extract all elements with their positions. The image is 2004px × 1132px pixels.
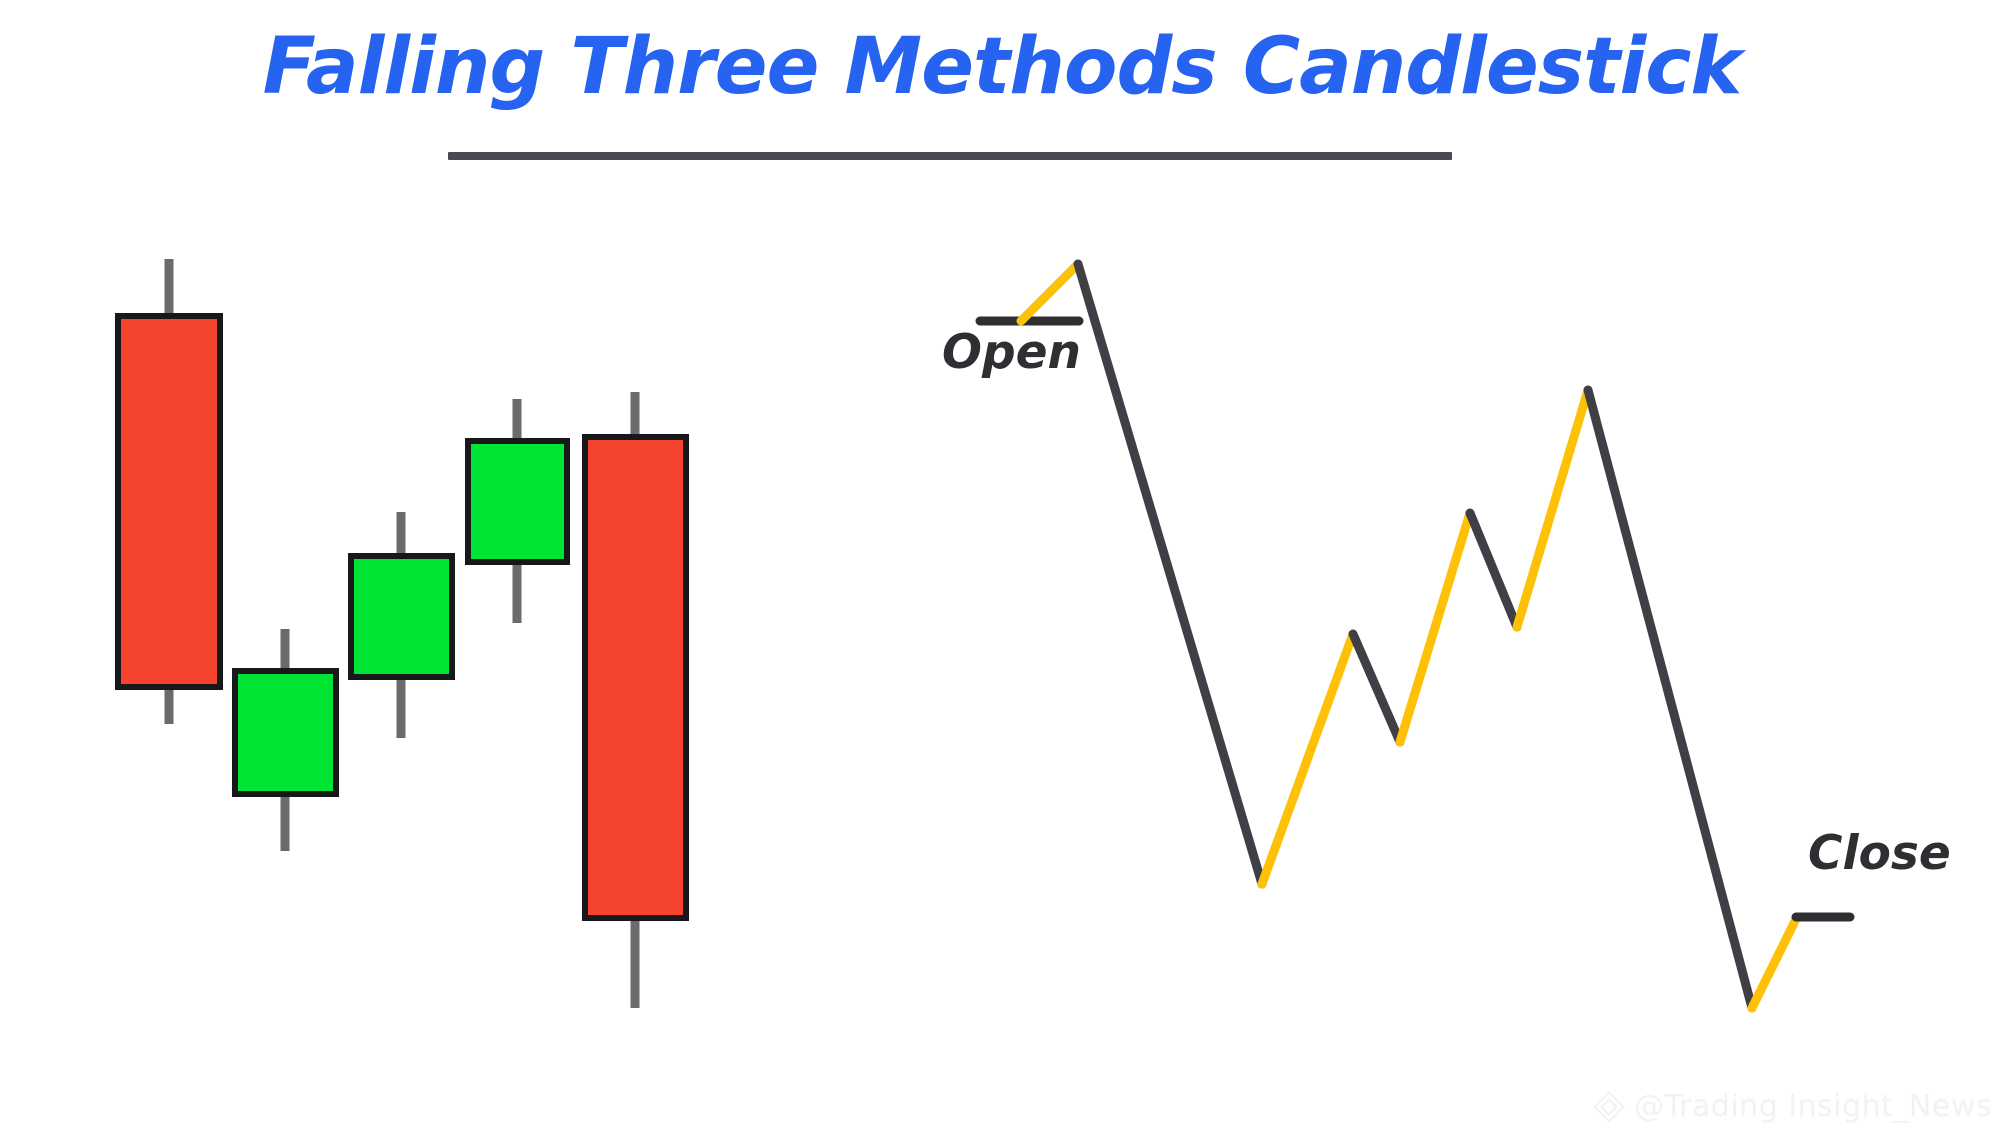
pattern-figure bbox=[0, 0, 2004, 1132]
candle-4 bbox=[468, 399, 567, 623]
candle-3-body bbox=[351, 556, 452, 677]
zigzag-segment-up-5 bbox=[1752, 917, 1797, 1008]
candle-5-body bbox=[585, 437, 686, 918]
zigzag-segment-down-4 bbox=[1588, 390, 1752, 1008]
watermark: @Trading Insight_News bbox=[1592, 1089, 1992, 1124]
candle-5 bbox=[585, 392, 686, 1008]
zigzag-segment-down-1 bbox=[1078, 264, 1262, 884]
screenshot-canvas: Falling Three Methods Candlestick bbox=[0, 0, 2004, 1132]
zigzag-segment-up-2 bbox=[1262, 634, 1353, 884]
close-label: Close bbox=[1808, 826, 1951, 881]
zigzag-price-line bbox=[980, 264, 1850, 1008]
watermark-handle: @Trading Insight_News bbox=[1634, 1089, 1992, 1124]
zigzag-segment-up-4 bbox=[1517, 390, 1588, 627]
candle-4-body bbox=[468, 441, 567, 562]
candle-2-body bbox=[235, 671, 336, 794]
zigzag-segment-up-1 bbox=[1021, 264, 1078, 321]
candle-1-body bbox=[118, 316, 220, 687]
open-label: Open bbox=[942, 325, 1081, 380]
candle-1 bbox=[118, 259, 220, 724]
candle-3 bbox=[351, 512, 452, 738]
candle-2 bbox=[235, 629, 336, 851]
zigzag-segment-up-3 bbox=[1400, 513, 1470, 742]
zigzag-segment-down-2 bbox=[1353, 634, 1400, 742]
zigzag-segment-down-3 bbox=[1470, 513, 1517, 627]
diamond-logo-icon bbox=[1592, 1090, 1626, 1124]
